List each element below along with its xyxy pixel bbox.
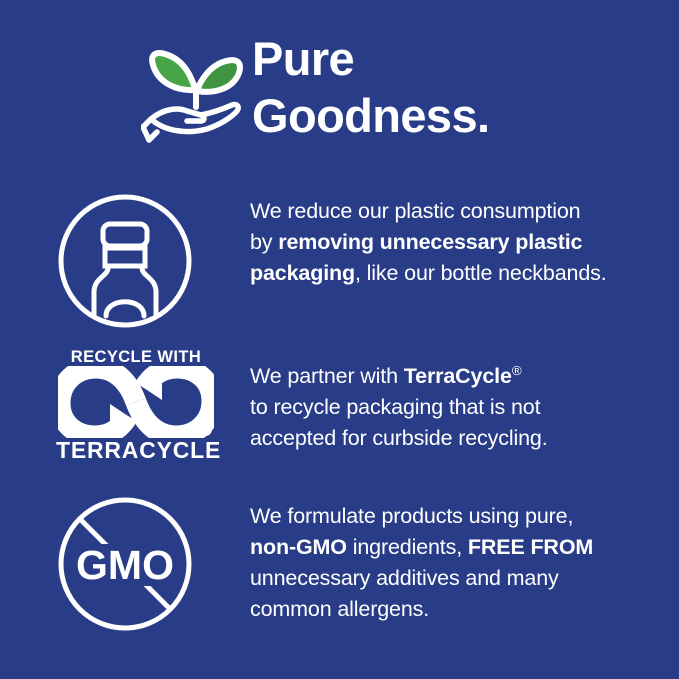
text-line: We partner with TerraCycle® <box>250 361 670 392</box>
text-line: We formulate products using pure, <box>250 501 670 532</box>
terracycle-top-label: RECYCLE WITH <box>56 348 216 366</box>
terracycle-bottom-label: TERRACYCLE <box>56 438 216 463</box>
text-line: non-GMO ingredients, FREE FROM <box>250 532 670 563</box>
text-line: accepted for curbside recycling. <box>250 423 670 454</box>
text-line: common allergens. <box>250 594 670 625</box>
terracycle-logo-icon: RECYCLE WITH R TERRACYCLE <box>56 348 216 476</box>
headline-line-2: Goodness. <box>252 87 672 144</box>
text-line: unnecessary additives and many <box>250 563 670 594</box>
feature-row-plastic: We reduce our plastic consumptionby remo… <box>0 192 679 332</box>
feature-row-terracycle: RECYCLE WITH R TERRACYCLE We par <box>0 348 679 476</box>
feature-text-terracycle: We partner with TerraCycle®to recycle pa… <box>250 361 670 454</box>
text-line: to recycle packaging that is not <box>250 392 670 423</box>
bottle-in-circle-icon <box>56 192 216 332</box>
text-line: We reduce our plastic consumption <box>250 196 670 227</box>
feature-row-gmo: GMO We formulate products using pure,non… <box>0 495 679 630</box>
hand-holding-sprout-icon <box>141 33 253 145</box>
page-title: Pure Goodness. <box>252 30 672 144</box>
text-line: by removing unnecessary plastic <box>250 227 670 258</box>
gmo-label: GMO <box>76 542 174 588</box>
text-line: packaging, like our bottle neckbands. <box>250 258 670 289</box>
headline-line-1: Pure <box>252 30 672 87</box>
infinity-loop-icon: R <box>56 366 216 438</box>
pure-goodness-poster: Pure Goodness. We reduce our plastic con… <box>0 0 679 679</box>
svg-text:R: R <box>203 428 208 435</box>
no-gmo-icon: GMO <box>56 495 216 630</box>
feature-text-plastic: We reduce our plastic consumptionby remo… <box>250 196 670 289</box>
feature-text-gmo: We formulate products using pure,non-GMO… <box>250 501 670 625</box>
poster-header: Pure Goodness. <box>0 0 679 170</box>
